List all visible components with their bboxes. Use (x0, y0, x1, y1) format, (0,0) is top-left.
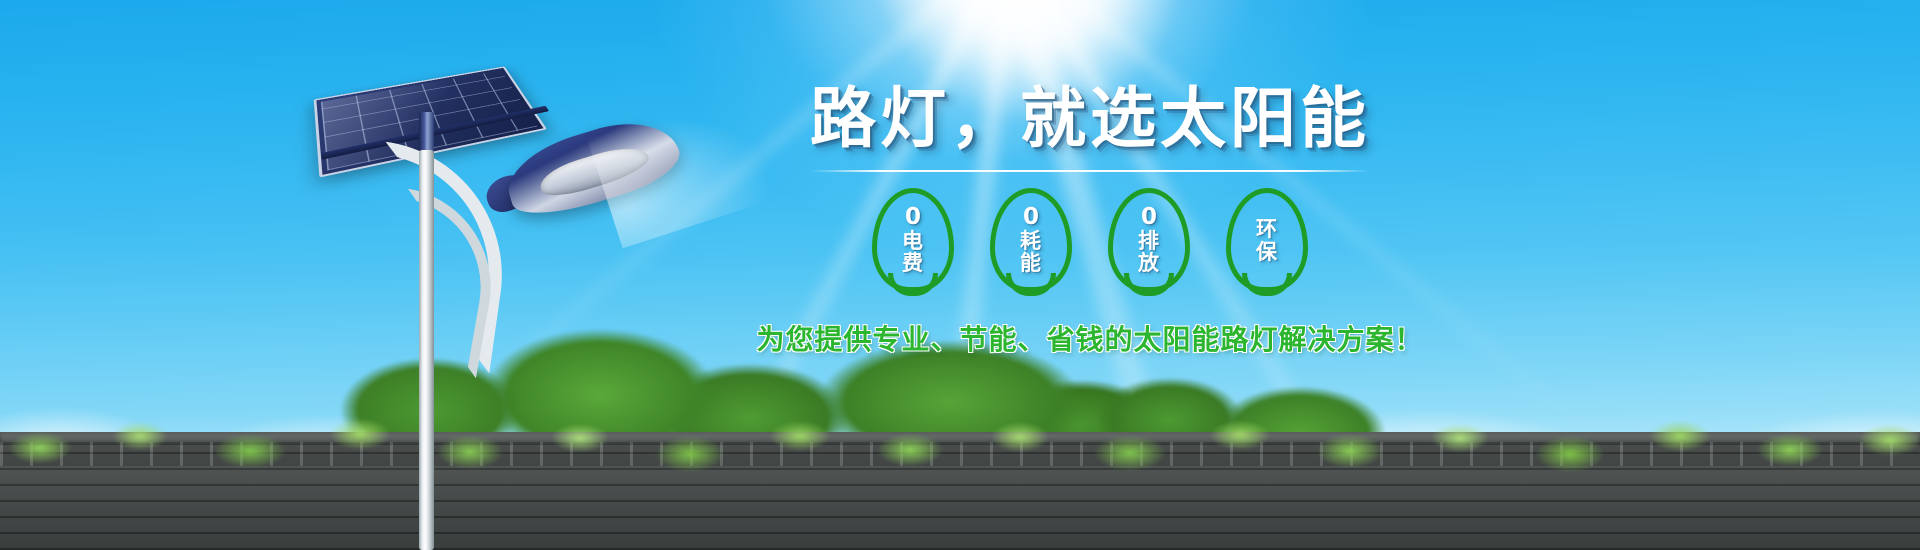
badge-label: 耗 能 (1020, 230, 1042, 274)
badge-label-line1: 耗 (1020, 230, 1042, 252)
badge-zero-value: 0 (1023, 206, 1039, 229)
feature-badge: 0 电 费 (872, 188, 954, 292)
feature-badge: 0 耗 能 (990, 188, 1072, 292)
banner-tagline: 为您提供专业、节能、省钱的太阳能路灯解决方案！ (740, 318, 1440, 358)
badge-label-line2: 能 (1020, 252, 1042, 274)
badge-label-line2: 费 (902, 252, 924, 274)
feature-badge: 0 排 放 (1108, 188, 1190, 292)
feature-badge: 环 保 (1226, 188, 1308, 292)
badge-zero-value: 0 (905, 206, 921, 229)
badge-label: 排 放 (1138, 230, 1160, 274)
lamp-pole (419, 150, 434, 550)
badge-label-line1: 排 (1138, 230, 1160, 252)
badge-label-line1: 电 (902, 230, 924, 252)
feature-badge-list: 0 电 费 0 耗 能 0 排 放 (740, 188, 1440, 292)
badge-label-line1: 环 (1256, 218, 1278, 240)
badge-label: 环 保 (1256, 218, 1278, 262)
solar-street-lamp (0, 0, 700, 550)
badge-label-line2: 保 (1256, 241, 1278, 263)
banner-copy: 路灯，就选太阳能 0 电 费 0 耗 能 0 排 (740, 86, 1440, 358)
badge-zero-value: 0 (1141, 206, 1157, 229)
banner-headline: 路灯，就选太阳能 (740, 86, 1440, 152)
badge-label: 电 费 (902, 230, 924, 274)
badge-label-line2: 放 (1138, 252, 1160, 274)
hero-banner: 路灯，就选太阳能 0 电 费 0 耗 能 0 排 (0, 0, 1920, 550)
headline-divider (810, 170, 1370, 172)
